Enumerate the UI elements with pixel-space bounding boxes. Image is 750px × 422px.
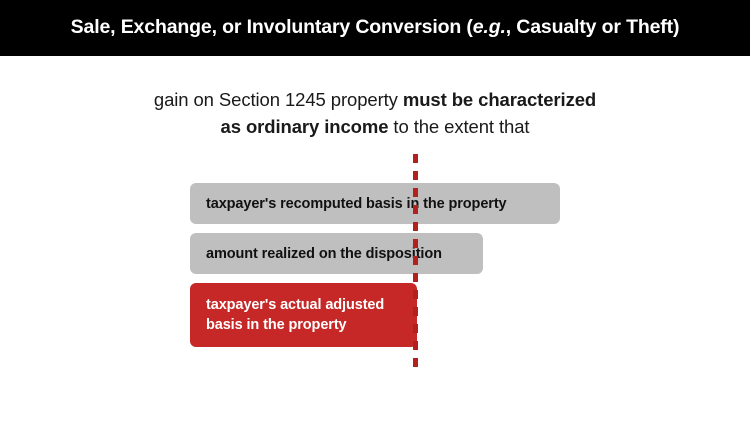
lead-line1-bold: must be characterized — [403, 89, 596, 110]
dashed-vertical-line-icon — [413, 154, 418, 373]
lead-line-2: as ordinary income to the extent that — [0, 113, 750, 140]
bar-group: taxpayer's recomputed basis in the prope… — [190, 183, 560, 347]
page-title-part2: , Casualty or Theft) — [506, 16, 680, 38]
bar-amount-realized-label: amount realized on the disposition — [206, 246, 442, 262]
lead-line2-bold: as ordinary income — [221, 116, 389, 137]
slide-canvas: Sale, Exchange, or Involuntary Conversio… — [0, 0, 750, 422]
bar-amount-realized: amount realized on the disposition — [190, 233, 483, 274]
page-title: Sale, Exchange, or Involuntary Conversio… — [71, 18, 680, 38]
bar-actual-adjusted-basis-line2: basis in the property — [206, 315, 384, 335]
lead-line2-regular: to the extent that — [388, 116, 529, 137]
lead-paragraph: gain on Section 1245 property must be ch… — [0, 86, 750, 140]
bar-actual-adjusted-basis-line1: taxpayer's actual adjusted — [206, 295, 384, 315]
page-title-part1: Sale, Exchange, or Involuntary Conversio… — [71, 16, 473, 38]
page-title-italic: e.g. — [473, 16, 506, 38]
lead-line-1: gain on Section 1245 property must be ch… — [0, 86, 750, 113]
bar-actual-adjusted-basis: taxpayer's actual adjusted basis in the … — [190, 283, 417, 347]
header-bar: Sale, Exchange, or Involuntary Conversio… — [0, 0, 750, 56]
lead-line1-regular: gain on Section 1245 property — [154, 89, 403, 110]
bar-actual-adjusted-basis-label: taxpayer's actual adjusted basis in the … — [206, 295, 384, 335]
bar-recomputed-basis-label: taxpayer's recomputed basis in the prope… — [206, 196, 507, 212]
bar-recomputed-basis: taxpayer's recomputed basis in the prope… — [190, 183, 560, 224]
